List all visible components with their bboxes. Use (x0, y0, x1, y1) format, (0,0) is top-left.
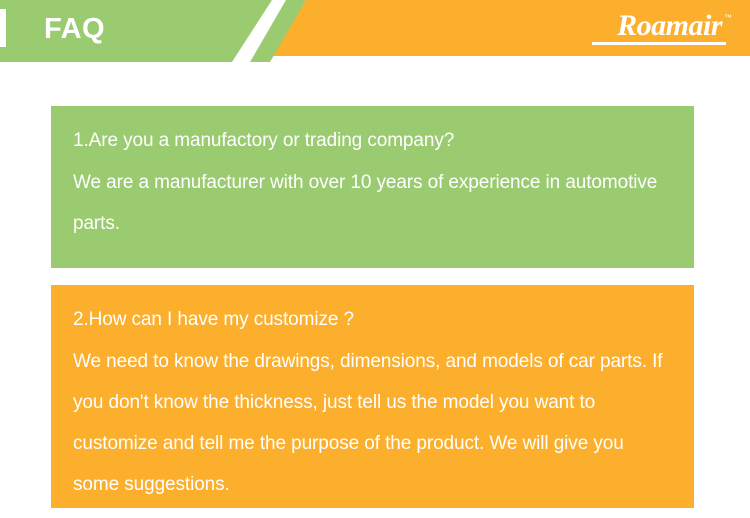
faq-item-2: 2.How can I have my customize ? We need … (51, 285, 694, 508)
faq-item-1: 1.Are you a manufactory or trading compa… (51, 106, 694, 268)
trademark-icon: ™ (724, 14, 732, 22)
faq-question-1: 1.Are you a manufactory or trading compa… (73, 120, 672, 161)
faq-question-2: 2.How can I have my customize ? (73, 299, 672, 340)
brand-logo: Roamair ™ (577, 11, 732, 47)
faq-answer-1: We are a manufacturer with over 10 years… (73, 162, 672, 244)
brand-logo-underline (592, 42, 726, 45)
page-title: FAQ (44, 12, 105, 46)
header-left-notch (0, 9, 6, 47)
page-header: FAQ Roamair ™ (0, 0, 750, 70)
brand-logo-wordmark: Roamair (617, 11, 722, 41)
faq-answer-2: We need to know the drawings, dimensions… (73, 341, 672, 505)
